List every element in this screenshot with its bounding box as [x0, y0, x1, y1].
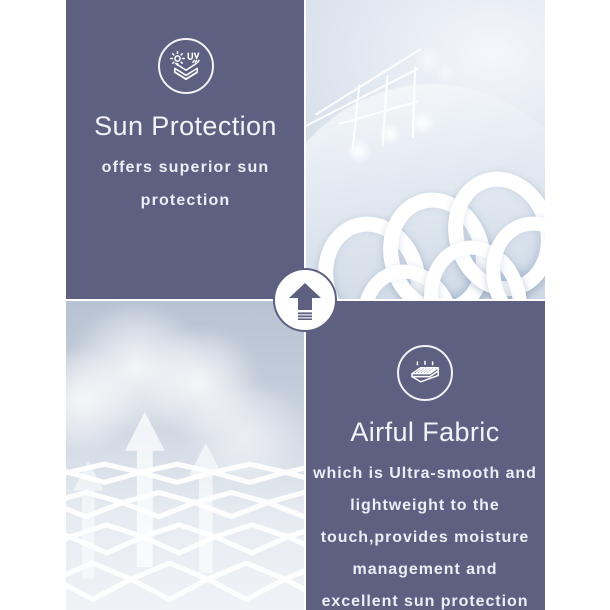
sparkle-glow	[346, 138, 372, 164]
braided-fabric-image	[305, 0, 545, 300]
bokeh-circle	[435, 63, 455, 83]
panel-title-sun-protection: Sun Protection	[94, 111, 277, 142]
fabric-layers-icon	[397, 345, 453, 401]
mesh-fabric-image	[66, 300, 305, 610]
panel-description-airful-fabric: which is Ultra-smooth and lightweight to…	[313, 458, 537, 610]
airflow-arrow	[125, 412, 165, 567]
uv-sun-protection-icon	[158, 38, 214, 94]
panel-title-airful-fabric: Airful Fabric	[350, 417, 499, 448]
photo-braided-fabric	[305, 0, 545, 300]
panel-description-sun-protection: offers superior sun protection	[81, 152, 291, 218]
feature-collage-graphic: Sun Protection offers superior sun prote…	[0, 0, 610, 610]
sparkle-glow	[411, 111, 435, 135]
panel-airful-fabric: Airful Fabric which is Ultra-smooth and …	[305, 300, 545, 610]
up-arrow-badge[interactable]	[273, 268, 337, 332]
airflow-arrow	[189, 443, 223, 573]
photo-breathable-mesh	[66, 300, 305, 610]
airflow-arrow	[73, 461, 104, 579]
up-arrow-icon	[288, 280, 322, 320]
panel-sun-protection: Sun Protection offers superior sun prote…	[66, 0, 305, 300]
